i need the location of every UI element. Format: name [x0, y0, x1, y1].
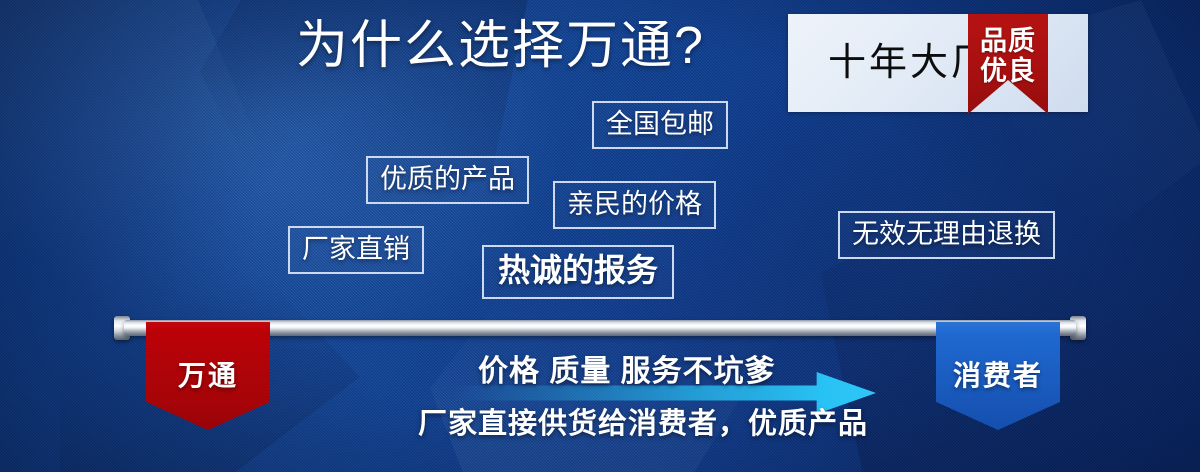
target-pennant: 消费者 [936, 322, 1060, 430]
page-title: 为什么选择万通? [296, 16, 705, 76]
background-shard [0, 0, 260, 310]
feature-chip-quality-product: 优质的产品 [366, 156, 529, 204]
promo-banner: 为什么选择万通? 十年大厂 品质 优良 全国包邮 优质的产品 亲民的价格 厂家直… [0, 0, 1200, 472]
tagline-primary: 价格 质量 服务不坑爹 [478, 354, 776, 390]
factory-badge-label: 十年大厂 [828, 40, 992, 86]
feature-chip-friendly-price: 亲民的价格 [553, 181, 716, 229]
tagline-secondary: 厂家直接供货给消费者，优质产品 [418, 407, 868, 441]
source-pennant-label: 万通 [146, 360, 270, 392]
feature-chip-free-returns: 无效无理由退换 [838, 211, 1055, 259]
feature-chip-free-shipping: 全国包邮 [592, 101, 728, 149]
target-pennant-label: 消费者 [936, 360, 1060, 392]
feature-chip-factory-direct: 厂家直销 [288, 226, 424, 274]
source-pennant: 万通 [146, 322, 270, 430]
feature-chip-sincere-service: 热诚的报务 [482, 245, 674, 299]
quality-ribbon-line-1: 品质 [968, 26, 1048, 56]
